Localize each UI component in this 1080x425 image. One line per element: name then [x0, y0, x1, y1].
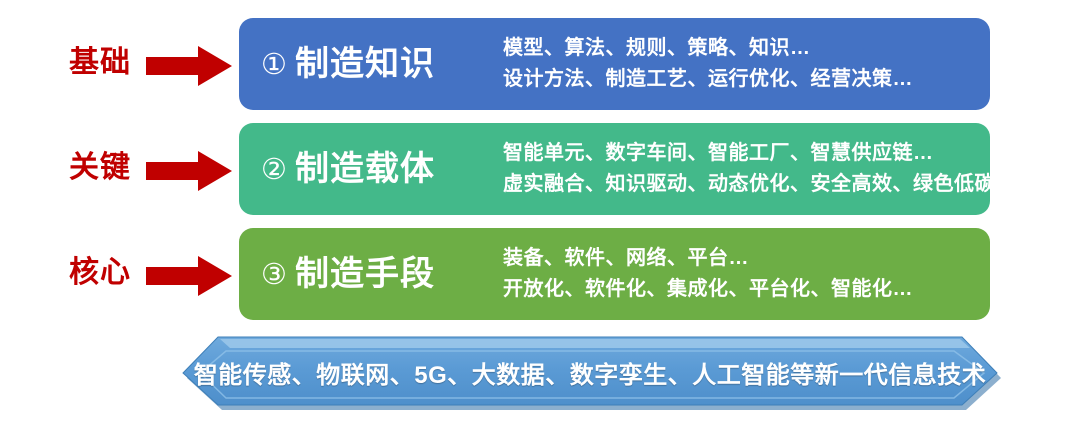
tier-detail-line: 开放化、软件化、集成化、平台化、智能化…: [503, 274, 980, 305]
tier-heading: ③ 制造手段: [261, 257, 499, 291]
right-arrow-icon: [146, 254, 232, 298]
tier-detail-list: 智能单元、数字车间、智能工厂、智慧供应链… 虚实融合、知识驱动、动态优化、安全高…: [499, 138, 995, 200]
tier-heading: ② 制造载体: [261, 152, 499, 186]
right-arrow-icon: [146, 149, 232, 193]
tier-box-manufacturing-means: ③ 制造手段 装备、软件、网络、平台… 开放化、软件化、集成化、平台化、智能化…: [239, 228, 990, 320]
tier-box-manufacturing-carrier: ② 制造载体 智能单元、数字车间、智能工厂、智慧供应链… 虚实融合、知识驱动、动…: [239, 123, 990, 215]
tier-title: 制造载体: [295, 152, 435, 186]
tier-title: 制造手段: [295, 257, 435, 291]
tier-detail-line: 智能单元、数字车间、智能工厂、智慧供应链…: [503, 138, 995, 169]
tier-number-icon: ③: [261, 261, 287, 290]
tier-number-icon: ①: [261, 51, 287, 80]
row-label-foundation: 基础: [40, 48, 160, 78]
tier-detail-list: 模型、算法、规则、策略、知识… 设计方法、制造工艺、运行优化、经营决策…: [499, 33, 980, 95]
tier-number-icon: ②: [261, 156, 287, 185]
tier-detail-line: 模型、算法、规则、策略、知识…: [503, 33, 980, 64]
tier-detail-list: 装备、软件、网络、平台… 开放化、软件化、集成化、平台化、智能化…: [499, 243, 980, 305]
tier-title: 制造知识: [295, 47, 435, 81]
right-arrow-icon: [146, 44, 232, 88]
tier-detail-line: 装备、软件、网络、平台…: [503, 243, 980, 274]
tier-detail-line: 虚实融合、知识驱动、动态优化、安全高效、绿色低碳: [503, 169, 995, 200]
tier-box-manufacturing-knowledge: ① 制造知识 模型、算法、规则、策略、知识… 设计方法、制造工艺、运行优化、经营…: [239, 18, 990, 110]
diagram-canvas: 基础 ① 制造知识 模型、算法、规则、策略、知识… 设计方法、制造工艺、运行优化…: [0, 0, 1080, 425]
foundation-banner-text: 智能传感、物联网、5G、大数据、数字孪生、人工智能等新一代信息技术: [178, 334, 1002, 410]
row-label-core: 核心: [40, 258, 160, 288]
tier-heading: ① 制造知识: [261, 47, 499, 81]
row-label-key: 关键: [40, 153, 160, 183]
foundation-banner: 智能传感、物联网、5G、大数据、数字孪生、人工智能等新一代信息技术: [178, 334, 1002, 410]
tier-detail-line: 设计方法、制造工艺、运行优化、经营决策…: [503, 64, 980, 95]
